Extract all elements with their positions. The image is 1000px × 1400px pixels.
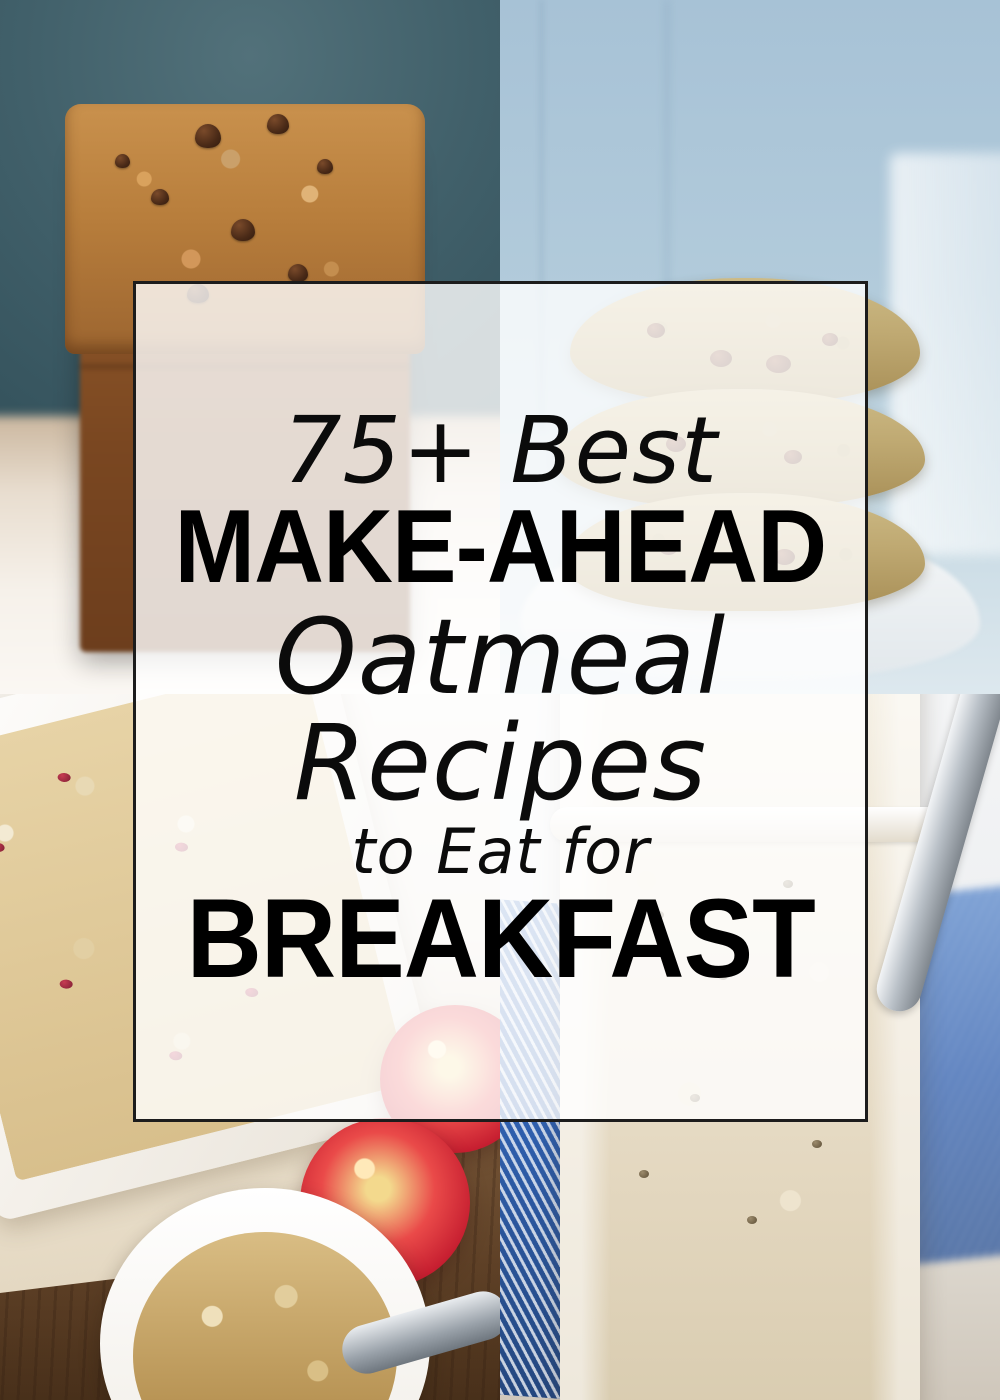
title-line-6: BREAKFAST	[186, 889, 814, 990]
dried-cranberry-icon	[59, 979, 73, 989]
seed-speck	[812, 1140, 822, 1148]
title-line-1: 75+ Best	[283, 405, 718, 497]
title-line-5: to Eat for	[351, 821, 649, 883]
chocolate-chip-icon	[288, 264, 308, 282]
title-line-4: Recipes	[294, 711, 708, 815]
chocolate-chip-icon	[231, 219, 255, 241]
seed-speck	[639, 1170, 649, 1178]
chocolate-chip-icon	[115, 154, 130, 168]
dried-cranberry-icon	[0, 843, 5, 853]
chocolate-chip-icon	[151, 189, 169, 205]
chocolate-chip-icon	[195, 124, 221, 148]
chocolate-chip-icon	[267, 114, 289, 134]
pinterest-pin-graphic: 75+ Best MAKE-AHEAD Oatmeal Recipes to E…	[0, 0, 1000, 1400]
title-line-2: MAKE-AHEAD	[175, 501, 827, 595]
chocolate-chip-icon	[317, 159, 333, 174]
dried-cranberry-icon	[58, 772, 72, 782]
title-overlay-frame: 75+ Best MAKE-AHEAD Oatmeal Recipes to E…	[133, 281, 868, 1122]
seed-speck	[747, 1216, 757, 1224]
title-line-3: Oatmeal	[275, 605, 726, 709]
